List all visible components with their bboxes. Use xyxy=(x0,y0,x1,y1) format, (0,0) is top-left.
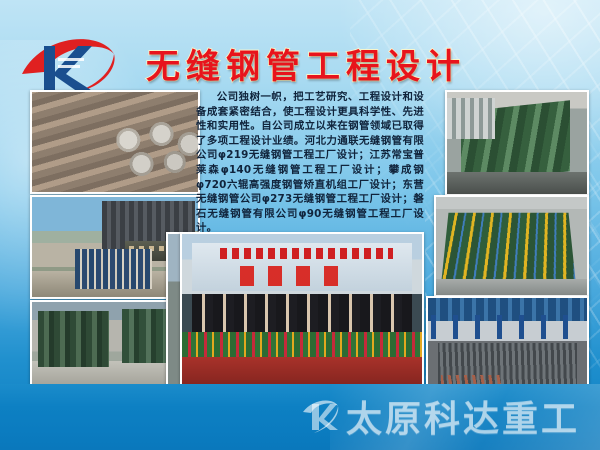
watermark-text: 太原科达重工 xyxy=(346,390,580,442)
page-title: 无缝钢管工程设计 xyxy=(136,44,476,90)
photo-cooling-bed xyxy=(426,296,589,394)
brochure-page: 无缝钢管工程设计 xyxy=(0,0,600,450)
company-watermark: 太原科达重工 xyxy=(300,390,580,442)
photo-assembly-line xyxy=(445,90,589,196)
photo-ceremony xyxy=(180,232,424,394)
photo-machine-rows xyxy=(434,195,589,297)
photo-steel-pipes xyxy=(30,90,200,194)
keda-mark-icon xyxy=(300,396,340,436)
body-paragraph: 公司独树一帜，把工艺研究、工程设计和设备成套紧密结合，使工程设计更具科学性、先进… xyxy=(196,90,424,236)
